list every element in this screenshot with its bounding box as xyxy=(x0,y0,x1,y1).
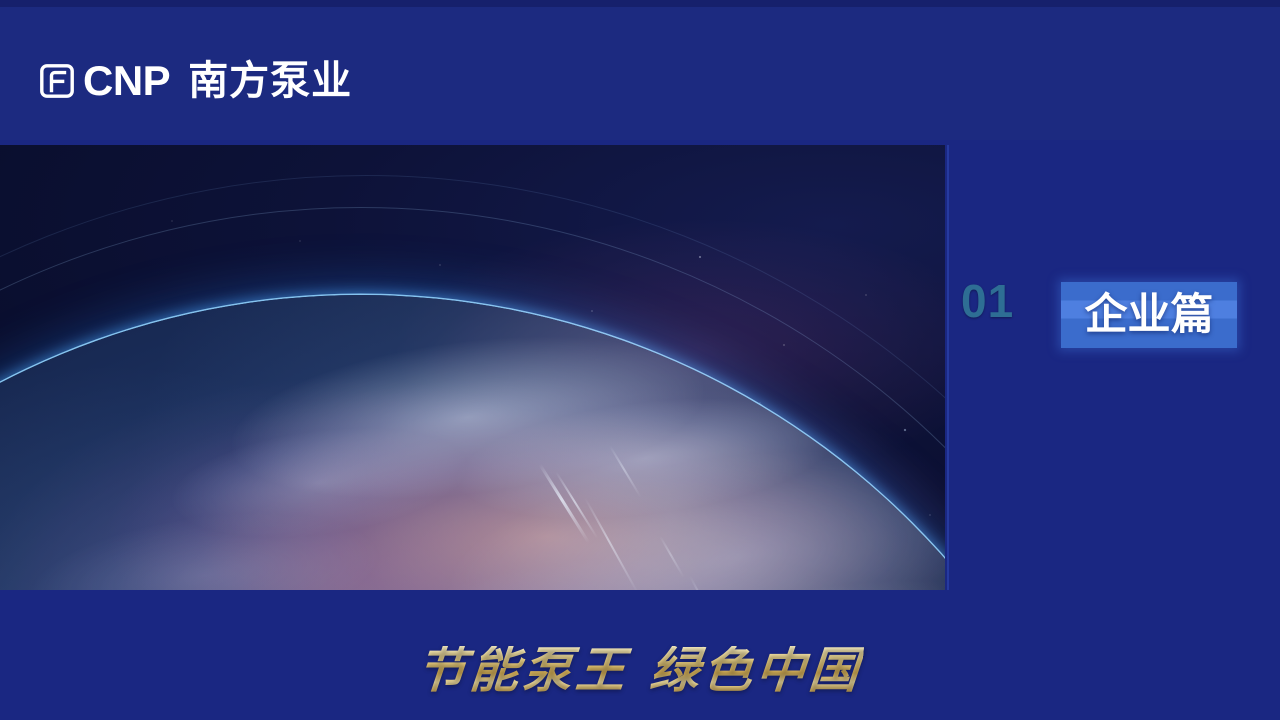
slide-header: CNP 南方泵业 xyxy=(0,7,1280,140)
chapter-number-group: 01 xyxy=(961,278,1014,324)
top-accent-strip xyxy=(0,0,1280,7)
chapter-number: 01 xyxy=(961,278,1014,324)
chapter-caption-column: 01 企业篇 xyxy=(947,145,1280,590)
column-divider xyxy=(947,145,949,590)
company-slogan: 节能泵王 绿色中国 xyxy=(415,646,864,695)
logo-chinese-text: 南方泵业 xyxy=(188,61,352,101)
chapter-title-highlight[interactable]: 企业篇 xyxy=(1061,282,1237,348)
earth-from-space-photo xyxy=(0,145,945,590)
cnp-monogram-icon xyxy=(40,64,74,98)
chapter-title: 企业篇 xyxy=(1085,294,1214,337)
company-logo[interactable]: CNP 南方泵业 xyxy=(40,55,352,107)
light-streaks xyxy=(0,145,945,590)
logo-latin-text: CNP xyxy=(83,60,170,102)
presentation-slide: CNP 南方泵业 xyxy=(0,0,1280,720)
slogan-area: 节能泵王 绿色中国 xyxy=(0,620,1280,720)
